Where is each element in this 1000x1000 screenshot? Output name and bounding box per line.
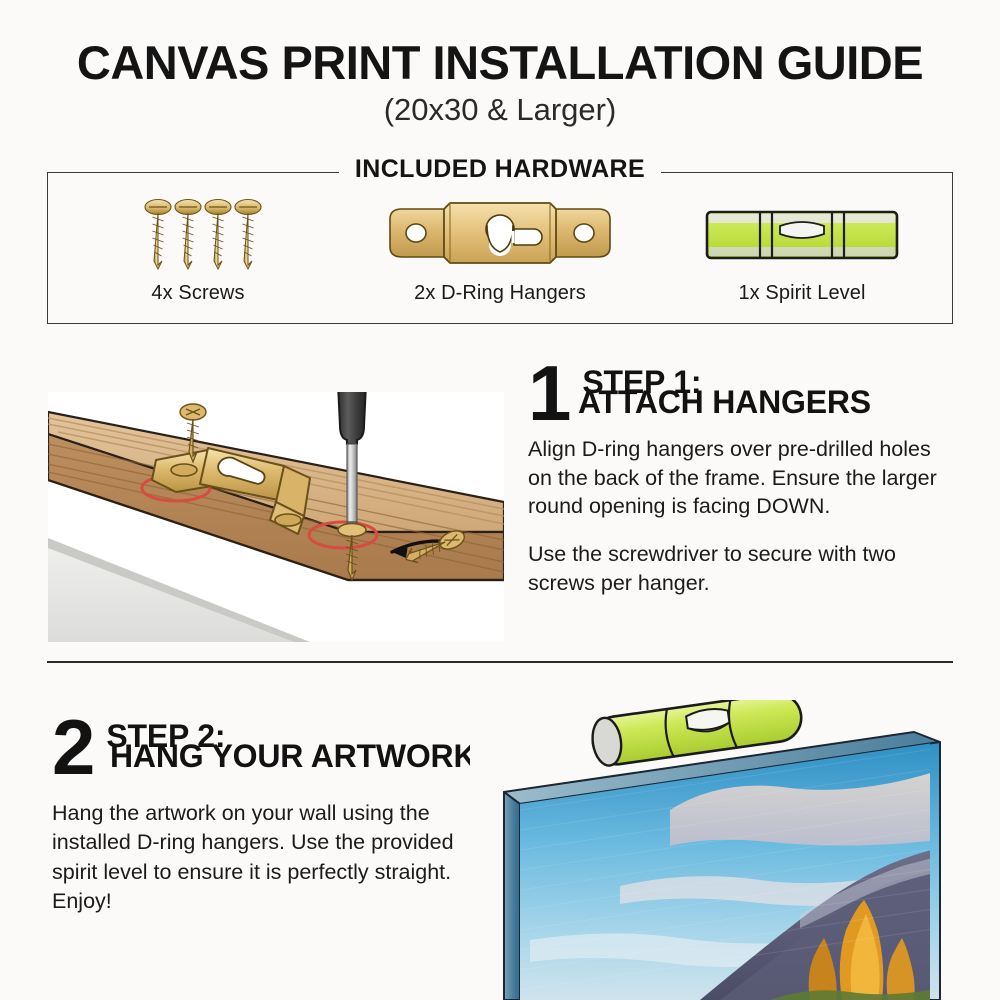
step-1-number: 1 [528,362,568,426]
step-1-illustration [48,392,504,642]
step-1-kicker: STEP 1: [582,366,701,399]
infographic-page: CANVAS PRINT INSTALLATION GUIDE (20x30 &… [0,0,1000,1000]
page-title: CANVAS PRINT INSTALLATION GUIDE [0,38,1000,87]
step-2-number: 2 [52,716,92,780]
step-1-paragraph-1: Align D-ring hangers over pre-drilled ho… [528,435,958,520]
hardware-label-spirit-level: 1x Spirit Level [738,282,865,305]
section-divider [47,661,953,663]
d-ring-hanger-icon [384,192,616,278]
hardware-item-screws: 4x Screws [47,172,349,324]
hardware-item-spirit-level: 1x Spirit Level [651,172,953,324]
hardware-label-screws: 4x Screws [151,282,244,305]
step-2-illustration [470,700,1000,1000]
step-1-text-block: 1 STEP 1: ATTACH HANGERS Align D-ring ha… [528,362,958,597]
spirit-level-icon [702,192,902,278]
step-2-text-block: 2 STEP 2: HANG YOUR ARTWORK Hang the art… [52,716,482,916]
step-2-paragraph-1: Hang the artwork on your wall using the … [52,799,482,916]
hardware-items: 4x Screws [47,172,953,324]
step-1-paragraph-2: Use the screwdriver to secure with two s… [528,540,958,597]
hardware-item-d-ring-hangers: 2x D-Ring Hangers [349,172,651,324]
step-1-heading: 1 STEP 1: [528,362,958,426]
step-2-heading: 2 STEP 2: [52,716,482,780]
screws-icon [133,192,263,278]
page-subtitle: (20x30 & Larger) [0,92,1000,128]
hardware-label-d-ring-hangers: 2x D-Ring Hangers [414,282,586,305]
step-2-kicker: STEP 2: [106,720,225,753]
